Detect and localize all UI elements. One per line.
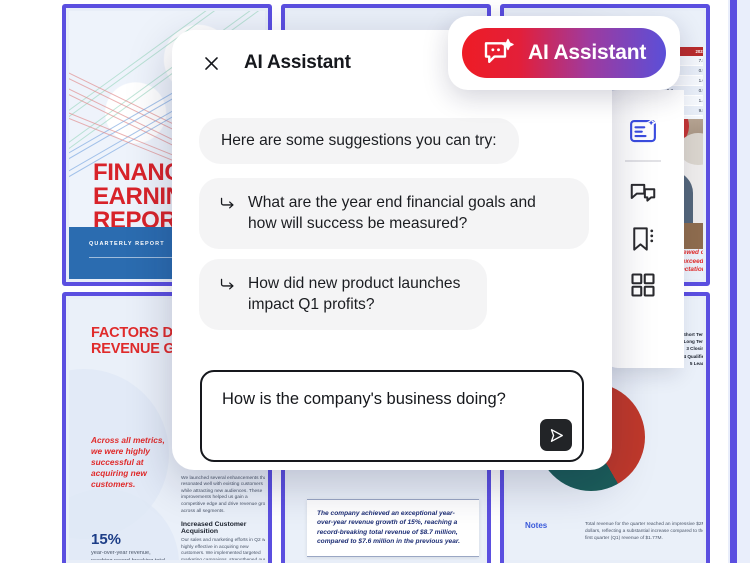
tool-rail <box>602 90 684 368</box>
send-button[interactable] <box>540 419 572 451</box>
suggestion-chip-2[interactable]: How did new product launches impact Q1 p… <box>199 259 487 330</box>
ai-panel-title: AI Assistant <box>244 52 351 74</box>
screen-root: FINANCIAL EARNINGS REPORT QUARTERLY REPO… <box>0 0 750 563</box>
assistant-intro-message: Here are some suggestions you can try: <box>199 118 519 164</box>
factors-body-3: We launched several enhancements that re… <box>181 476 265 516</box>
workspace-right-strip <box>728 0 750 563</box>
send-paper-plane-icon <box>548 427 565 444</box>
factors-heading-4: Increased Customer Acquisition <box>181 521 265 535</box>
ai-summary-icon[interactable] <box>620 108 666 154</box>
factors-body-4: Our sales and marketing efforts in Q2 we… <box>181 538 265 560</box>
suggestion-chip-1[interactable]: What are the year end financial goals an… <box>199 178 589 249</box>
ai-assistant-button-label: AI Assistant <box>528 41 646 65</box>
factors-pull-quote: Across all metrics, we were highly succe… <box>91 435 169 490</box>
arrow-turn-down-right-icon <box>219 193 236 214</box>
cover-band-label: QUARTERLY REPORT <box>89 241 165 247</box>
revenue-callout-text: The company achieved an exceptional year… <box>317 509 469 547</box>
factors-stat-value: 15% <box>91 531 121 548</box>
ai-assistant-fab-container: AI Assistant <box>448 16 680 90</box>
arrow-turn-down-right-icon <box>219 274 236 295</box>
ai-chat-sparkle-icon <box>482 38 516 68</box>
ai-assistant-button[interactable]: AI Assistant <box>462 28 666 78</box>
apps-grid-icon[interactable] <box>620 262 666 308</box>
composer[interactable] <box>200 370 584 462</box>
bookmark-icon[interactable] <box>620 216 666 262</box>
notes-label: Notes <box>525 521 547 530</box>
comments-icon[interactable] <box>620 170 666 216</box>
factors-stat-caption: year-over-year revenue, reaching record-… <box>91 549 171 560</box>
notes-body: Total revenue for the quarter reached an… <box>585 521 703 542</box>
suggestion-list: Here are some suggestions you can try: W… <box>199 118 589 340</box>
close-icon[interactable] <box>200 52 222 74</box>
revenue-callout: The company achieved an exceptional year… <box>307 499 479 557</box>
table-cell: 1.0 <box>675 76 703 86</box>
prompt-input[interactable] <box>220 386 564 434</box>
suggestion-chip-2-label: How did new product launches impact Q1 p… <box>248 273 463 315</box>
rail-divider <box>625 160 661 162</box>
suggestion-chip-1-label: What are the year end financial goals an… <box>248 192 565 234</box>
ai-assistant-panel: AI Assistant Here are some suggestions y… <box>172 30 612 470</box>
